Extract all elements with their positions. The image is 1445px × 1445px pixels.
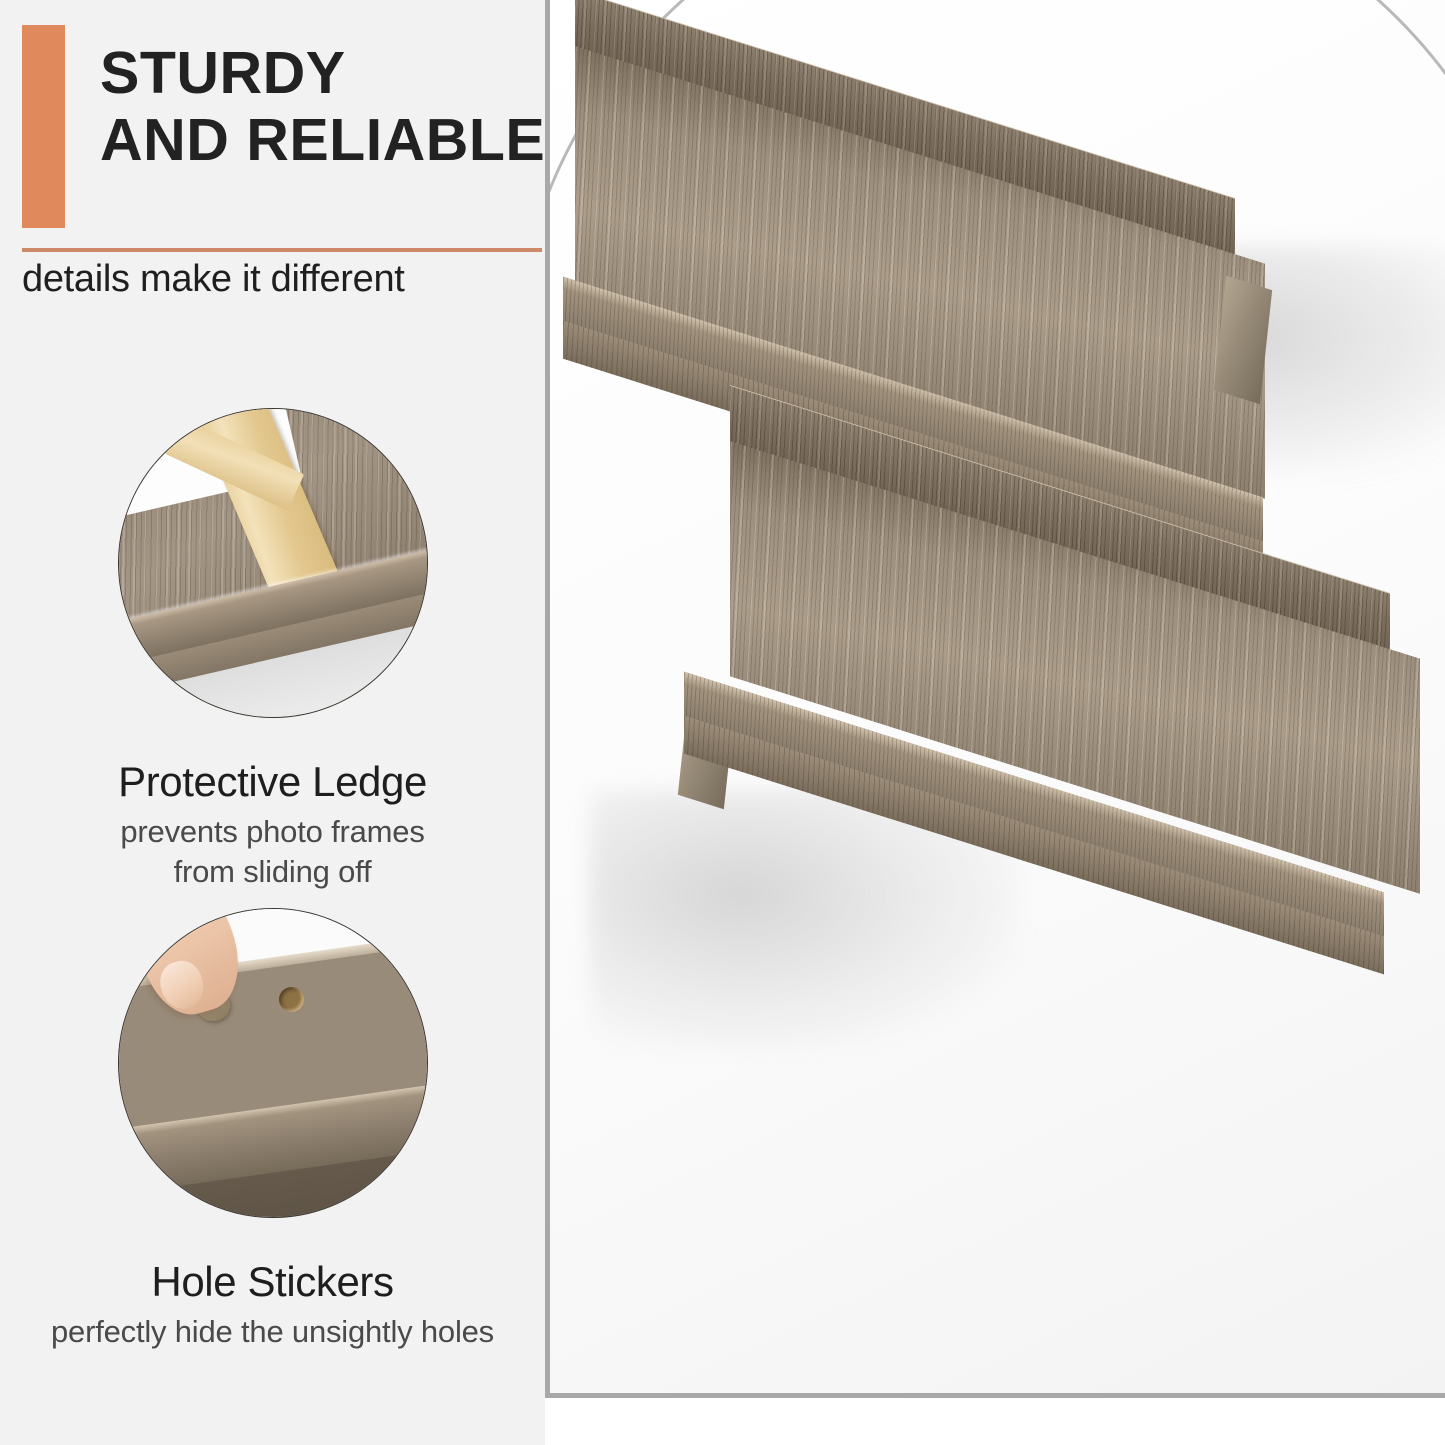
panel-border-bottom	[545, 1393, 1445, 1398]
product-photo-panel: Two rustic gray-brown wood wall ledge sh…	[545, 0, 1445, 1445]
left-content-column: STURDY AND RELIABLE details make it diff…	[0, 0, 545, 1445]
feature-title: Hole Stickers	[0, 1258, 545, 1306]
accent-bar	[22, 25, 65, 228]
feature-subtitle: prevents photo frames from sliding off	[0, 812, 545, 891]
subheadline: details make it different	[22, 258, 405, 301]
headline-line-2: AND RELIABLE	[100, 107, 540, 174]
feature-photo-protective-ledge	[118, 408, 428, 718]
feature-title: Protective Ledge	[0, 758, 545, 806]
feature-subtitle-line-2: from sliding off	[0, 852, 545, 892]
panel-border-left	[545, 0, 550, 1398]
feature-block-hole-stickers: Hole Stickers perfectly hide the unsight…	[0, 908, 545, 1352]
feature-photo-hole-stickers	[118, 908, 428, 1218]
infographic-root: STURDY AND RELIABLE details make it diff…	[0, 0, 1445, 1445]
header-divider	[22, 248, 542, 252]
feature-subtitle-line-1: prevents photo frames	[0, 812, 545, 852]
feature-subtitle-line-1: perfectly hide the unsightly holes	[0, 1312, 545, 1352]
page-title: STURDY AND RELIABLE	[100, 40, 540, 175]
feature-subtitle: perfectly hide the unsightly holes	[0, 1312, 545, 1352]
feature-block-protective-ledge: Protective Ledge prevents photo frames f…	[0, 408, 545, 891]
headline-line-1: STURDY	[100, 40, 540, 107]
